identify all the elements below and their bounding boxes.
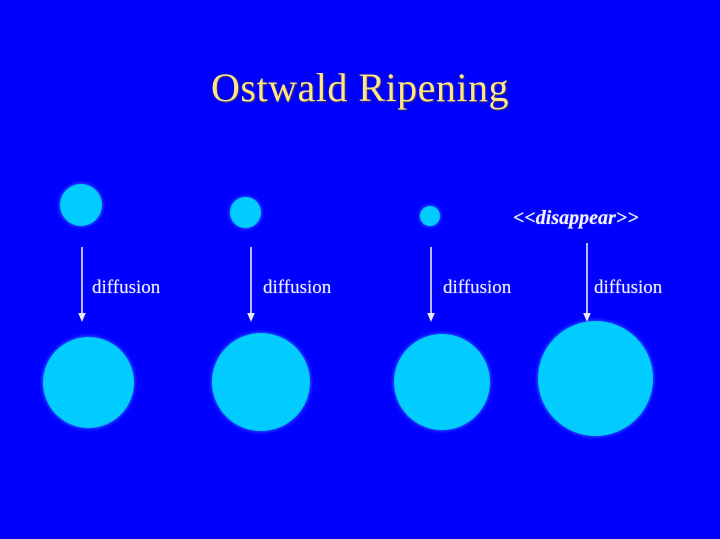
diffusion-label-2: diffusion (263, 278, 331, 297)
large-particle-3 (394, 334, 490, 430)
large-particle-1 (43, 337, 134, 428)
diffusion-arrow-2 (244, 247, 258, 323)
arrow-down-icon (244, 247, 258, 323)
diffusion-arrow-4 (580, 243, 594, 323)
slide-canvas: Ostwald Ripening diffusion diffusion dif… (0, 0, 720, 539)
small-particle-3 (420, 206, 440, 226)
diffusion-label-1: diffusion (92, 278, 160, 297)
arrow-down-icon (424, 247, 438, 323)
disappear-annotation: <<disappear>> (513, 208, 639, 228)
arrow-down-icon (75, 247, 89, 323)
diffusion-arrow-1 (75, 247, 89, 323)
arrow-down-icon (580, 243, 594, 323)
large-particle-4 (538, 321, 653, 436)
diffusion-label-4: diffusion (594, 278, 662, 297)
large-particle-2 (212, 333, 310, 431)
small-particle-1 (60, 184, 102, 226)
small-particle-2 (230, 197, 261, 228)
diffusion-arrow-3 (424, 247, 438, 323)
diffusion-label-3: diffusion (443, 278, 511, 297)
page-title: Ostwald Ripening (0, 68, 720, 108)
